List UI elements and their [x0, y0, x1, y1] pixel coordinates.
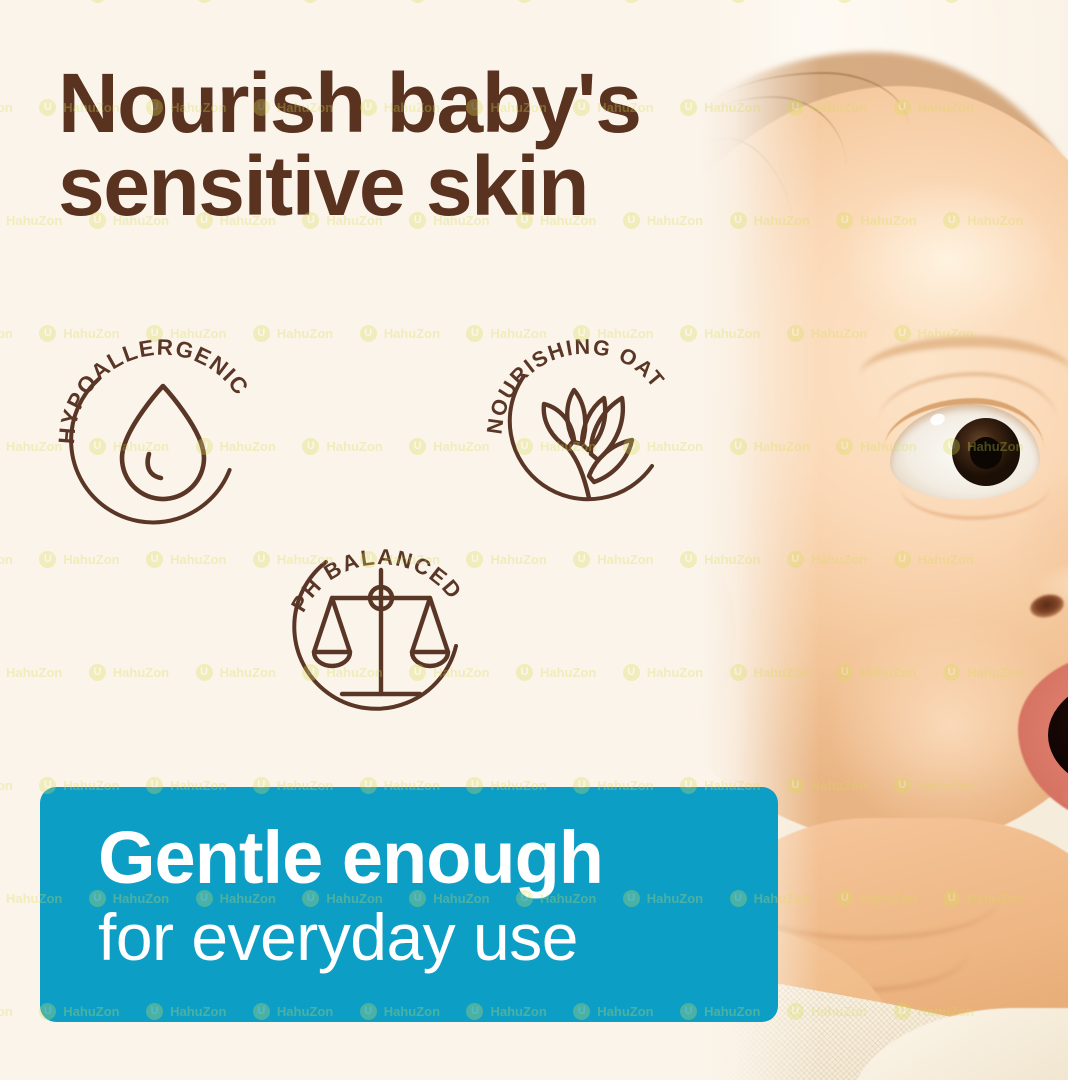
baby-open-mouth [1018, 650, 1068, 830]
badge-hypoallergenic: HYPOALLERGENIC [52, 326, 274, 548]
eyelash-icon [884, 398, 1044, 454]
badge-label: HYPOALLERGENIC [54, 335, 254, 445]
product-banner-canvas: Nourish baby's sensitive skin HYP [0, 0, 1068, 1080]
balance-scale-icon [314, 570, 448, 694]
water-droplet-icon [122, 386, 204, 499]
banner-subheadline: for everyday use [98, 901, 778, 974]
badge-label: PH BALANCED [286, 544, 468, 616]
badge-ph-balanced: PH BALANCED [270, 518, 492, 740]
banner-headline: Gentle enough [98, 821, 778, 895]
gentle-enough-banner: Gentle enough for everyday use [40, 787, 778, 1022]
oat-sprig-icon [544, 390, 632, 498]
badge-nourishing-oat: NOURISHING OAT [484, 326, 694, 536]
claims-badge-group: HYPOALLERGENIC [0, 0, 700, 760]
